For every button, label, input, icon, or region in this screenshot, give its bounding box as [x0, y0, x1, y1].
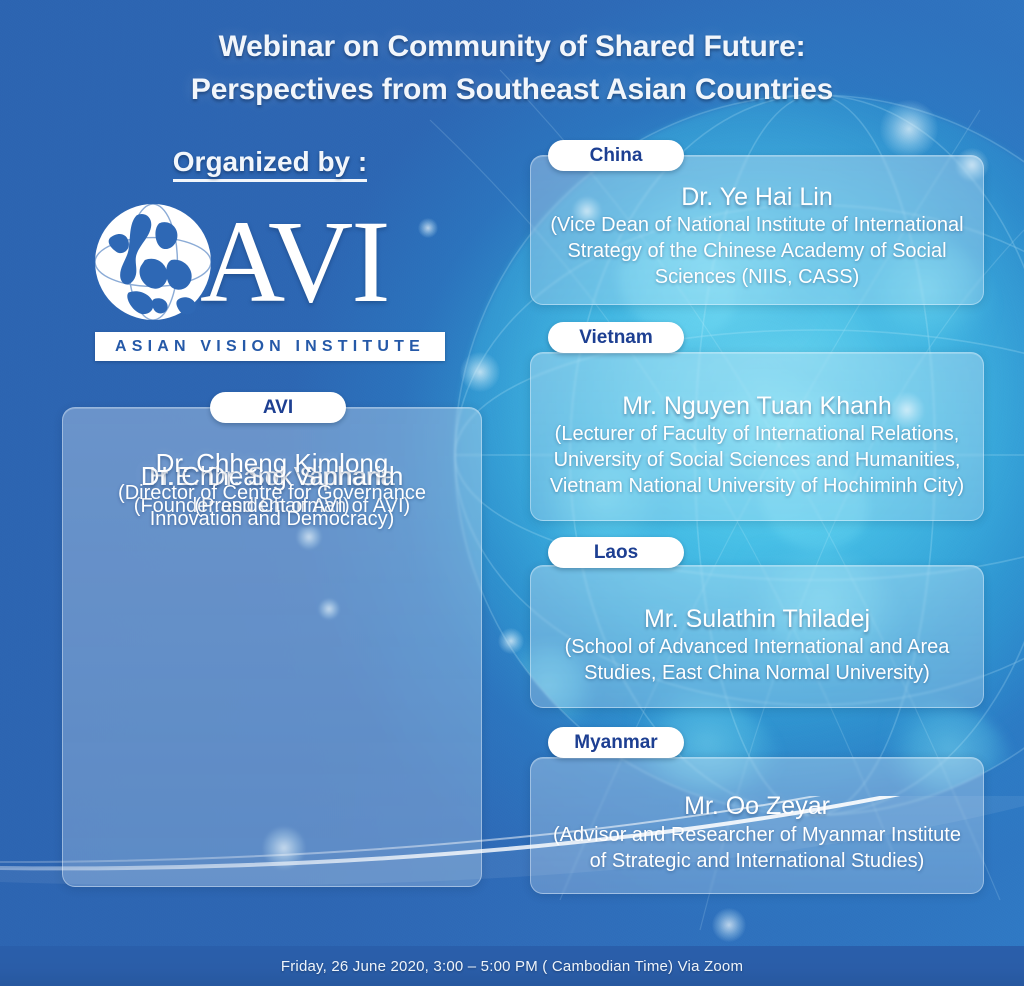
speaker-entry: Dr. Ye Hai Lin (Vice Dean of National In…	[545, 182, 969, 291]
speaker-panel-myanmar: Mr. Oo Zeyar (Advisor and Researcher of …	[530, 757, 984, 894]
avi-logo: AVI ASIAN VISION INSTITUTE	[92, 198, 452, 368]
panel-tag-avi: AVI	[210, 392, 346, 423]
webinar-poster: Webinar on Community of Shared Future: P…	[0, 0, 1024, 986]
speaker-name: Mr. Nguyen Tuan Khanh	[545, 391, 969, 422]
panel-tag-vietnam-label: Vietnam	[579, 327, 653, 349]
speaker-name: Mr. Sulathin Thiladej	[545, 604, 969, 635]
page-title: Webinar on Community of Shared Future: P…	[0, 26, 1024, 111]
avi-tagline-bar: ASIAN VISION INSTITUTE	[95, 332, 445, 361]
panel-tag-vietnam: Vietnam	[548, 322, 684, 353]
panel-tag-laos-label: Laos	[594, 542, 638, 564]
speaker-entry: Mr. Nguyen Tuan Khanh (Lecturer of Facul…	[545, 391, 969, 500]
globe-icon	[92, 201, 214, 323]
speaker-role: (Advisor and Researcher of Myanmar Insti…	[545, 822, 969, 874]
speaker-entry: Dr. Chheng Kimlong (Director of Centre f…	[77, 448, 467, 532]
panel-tag-china-label: China	[590, 145, 643, 167]
speaker-panel-avi: H.E. Dr. Sok Siphana (Founder and Chairm…	[62, 407, 482, 887]
speaker-role: (Lecturer of Faculty of International Re…	[545, 421, 969, 499]
avi-tagline: ASIAN VISION INSTITUTE	[115, 338, 425, 356]
speaker-name: Dr. Chheng Kimlong	[77, 448, 467, 480]
speaker-panel-vietnam: Mr. Nguyen Tuan Khanh (Lecturer of Facul…	[530, 352, 984, 521]
panel-tag-myanmar-label: Myanmar	[574, 732, 657, 754]
speaker-role: (Vice Dean of National Institute of Inte…	[545, 212, 969, 290]
speaker-panel-laos: Mr. Sulathin Thiladej (School of Advance…	[530, 565, 984, 708]
organized-by-heading: Organized by :	[40, 146, 500, 178]
footer-details: Friday, 26 June 2020, 3:00 – 5:00 PM ( C…	[0, 946, 1024, 986]
footer-datetime-label: Friday, 26 June 2020, 3:00 – 5:00 PM ( C…	[281, 958, 743, 975]
avi-wordmark: AVI	[200, 208, 389, 317]
panel-tag-china: China	[548, 140, 684, 171]
panel-tag-laos: Laos	[548, 537, 684, 568]
panel-tag-avi-label: AVI	[263, 397, 293, 419]
speaker-name: Dr. Ye Hai Lin	[545, 182, 969, 213]
title-line-1: Webinar on Community of Shared Future:	[0, 26, 1024, 69]
speaker-name: Mr. Oo Zeyar	[545, 791, 969, 822]
speaker-panel-china: Dr. Ye Hai Lin (Vice Dean of National In…	[530, 155, 984, 305]
panel-tag-myanmar: Myanmar	[548, 727, 684, 758]
organized-by-label: Organized by :	[173, 146, 367, 182]
title-line-2: Perspectives from Southeast Asian Countr…	[0, 69, 1024, 112]
speaker-role: (School of Advanced International and Ar…	[545, 634, 969, 686]
speaker-role: (Director of Centre for Governance Innov…	[77, 480, 467, 532]
speaker-entry: Mr. Sulathin Thiladej (School of Advance…	[545, 604, 969, 687]
speaker-entry: Mr. Oo Zeyar (Advisor and Researcher of …	[545, 791, 969, 874]
